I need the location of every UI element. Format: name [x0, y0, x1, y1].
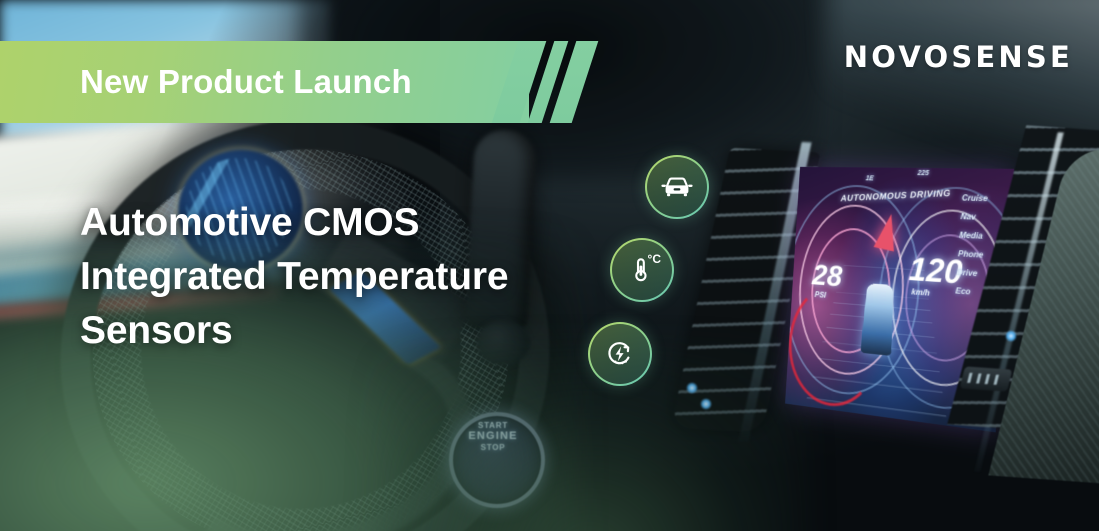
cluster-small-text-a: 1E	[865, 175, 873, 182]
feature-badge-energy	[588, 322, 652, 386]
novosense-logo: NOVOSENSE	[844, 40, 1073, 74]
led-sparkle-icon	[1005, 330, 1017, 342]
feature-badge-automotive	[645, 155, 709, 219]
right-control-switch[interactable]	[960, 366, 1013, 391]
power-cycle-icon	[604, 338, 636, 370]
green-tint-overlay-secondary	[380, 351, 800, 531]
banner-label: New Product Launch	[80, 63, 412, 101]
feature-badge-temperature: °C	[610, 238, 674, 302]
new-product-launch-banner: New Product Launch	[0, 41, 529, 123]
cluster-menu-item[interactable]: Cruise	[962, 193, 1011, 204]
page-title: Automotive CMOS Integrated Temperature S…	[80, 196, 508, 358]
product-launch-poster: START ENGINE STOP AUTONOMOUS DRIVING 1E …	[0, 0, 1099, 531]
headline-line-1: Automotive CMOS	[80, 196, 508, 250]
banner-slash-decoration	[505, 41, 601, 123]
headline-line-3: Sensors	[80, 304, 508, 358]
cluster-right-gauge-unit: km/h	[911, 287, 930, 297]
cluster-left-gauge-unit: PSI	[814, 290, 826, 300]
headline-line-2: Integrated Temperature	[80, 250, 508, 304]
celsius-label: °C	[648, 253, 661, 265]
cluster-small-text-b: 225	[917, 170, 929, 177]
car-icon	[660, 175, 694, 199]
cluster-left-gauge-value: 28	[811, 259, 843, 294]
